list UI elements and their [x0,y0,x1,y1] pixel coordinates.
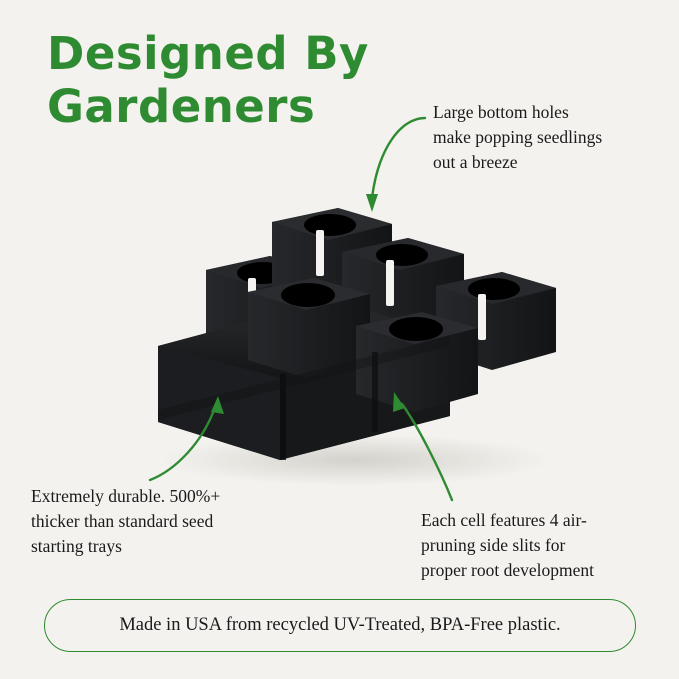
annotation-durability: Extremely durable. 500%+ thicker than st… [31,484,301,559]
page-title-line-1: Designed By [47,28,447,81]
annotation-bottom-holes-line-3: out a breeze [433,150,673,175]
annotation-bottom-holes-line-2: make popping seedlings [433,125,673,150]
annotation-durability-line-3: starting trays [31,534,301,559]
footer-banner-text: Made in USA from recycled UV-Treated, BP… [119,615,560,636]
page-title: Designed By Gardeners [47,28,447,133]
page-title-line-2: Gardeners [47,81,447,134]
annotation-bottom-holes: Large bottom holes make popping seedling… [433,100,673,175]
annotation-bottom-holes-line-1: Large bottom holes [433,100,673,125]
annotation-air-pruning-line-1: Each cell features 4 air- [421,508,671,533]
annotation-air-pruning-line-3: proper root development [421,558,671,583]
footer-banner: Made in USA from recycled UV-Treated, BP… [44,599,636,652]
annotation-durability-line-2: thicker than standard seed [31,509,301,534]
seed-tray-illustration [120,160,560,490]
annotation-air-pruning-line-2: pruning side slits for [421,533,671,558]
product-image [120,160,560,490]
annotation-air-pruning: Each cell features 4 air- pruning side s… [421,508,671,583]
product-infographic: Designed By Gardeners [0,0,679,679]
annotation-durability-line-1: Extremely durable. 500%+ [31,484,301,509]
product-shadow [160,434,550,486]
